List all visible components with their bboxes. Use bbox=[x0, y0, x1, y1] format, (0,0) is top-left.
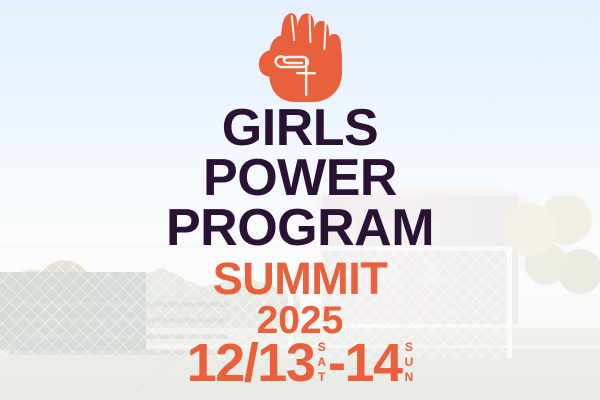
subtitle-summit: SUMMIT bbox=[0, 256, 600, 301]
raised-fist-icon bbox=[0, 6, 600, 110]
day-letter-a-1: A bbox=[317, 355, 326, 370]
poster-canvas: GIRLS POWER PROGRAM SUMMIT 2025 12/13 S … bbox=[0, 0, 600, 400]
day-letter-t-1: T bbox=[318, 370, 325, 385]
event-date-row: 12/13 S A T - 14 S U N bbox=[0, 336, 600, 390]
day-letter-u-2: U bbox=[405, 355, 414, 370]
date-separator: - bbox=[328, 336, 344, 390]
title-line-1: GIRLS bbox=[0, 104, 600, 154]
day-letter-n-2: N bbox=[405, 370, 414, 385]
date-end-day: S U N bbox=[405, 340, 414, 385]
title-line-2: POWER bbox=[0, 154, 600, 204]
date-end: 14 bbox=[345, 336, 402, 390]
poster-content: GIRLS POWER PROGRAM SUMMIT 2025 12/13 S … bbox=[0, 0, 600, 400]
date-start: 12/13 bbox=[187, 336, 315, 390]
title-block: GIRLS POWER PROGRAM SUMMIT 2025 bbox=[0, 104, 600, 342]
title-line-3: PROGRAM bbox=[0, 204, 600, 254]
day-letter-s-1: S bbox=[318, 340, 326, 355]
date-start-day: S A T bbox=[317, 340, 326, 385]
day-letter-s-2: S bbox=[405, 340, 413, 355]
